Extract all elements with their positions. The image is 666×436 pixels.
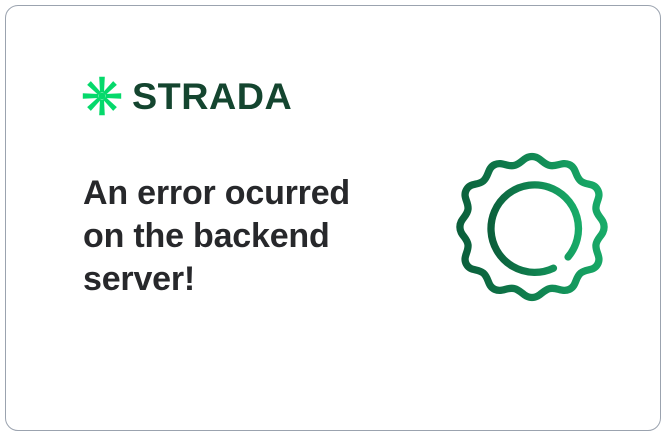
strada-asterisk-icon [82,76,122,116]
error-message-line-1: An error ocurred [83,172,383,215]
error-message-line-3: server! [83,258,383,301]
brand-lockup: STRADA [82,76,289,116]
error-message: An error ocurred on the backend server! [83,172,383,301]
gear-illustration [451,146,613,308]
error-card: STRADA An error ocurred on the backend s… [5,5,661,431]
error-message-line-2: on the backend [83,215,383,258]
brand-wordmark: STRADA [132,78,292,115]
gear-cog-icon [451,146,613,308]
